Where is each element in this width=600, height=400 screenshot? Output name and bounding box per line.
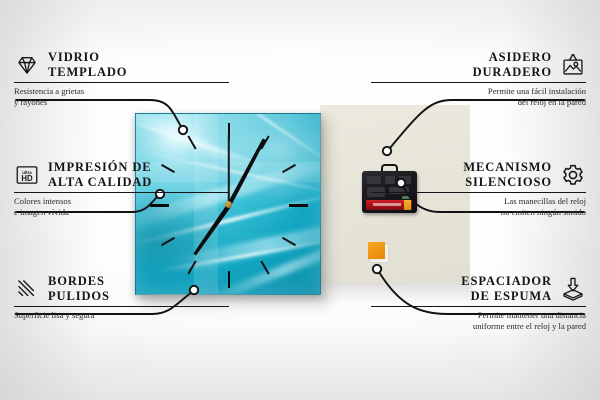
feature-description: Resistencia a grietas y rayones — [14, 86, 229, 108]
feature-asidero-duradero: ASIDERO DURADERO Permite una fácil insta… — [371, 50, 586, 108]
feature-rule — [371, 192, 586, 193]
svg-text:HD: HD — [21, 174, 33, 183]
feature-description: Permite una fácil instalación del reloj … — [371, 86, 586, 108]
feature-rule — [14, 192, 229, 193]
feature-rule — [14, 82, 229, 83]
feature-title: ASIDERO DURADERO — [473, 50, 552, 79]
feature-vidrio-templado: VIDRIO TEMPLADO Resistencia a grietas y … — [14, 50, 229, 108]
feature-title: IMPRESIÓN DE ALTA CALIDAD — [48, 160, 152, 189]
feature-description: Las manecillas del reloj no emiten ningú… — [371, 196, 586, 218]
feature-title: MECANISMO SILENCIOSO — [463, 160, 552, 189]
diamond-icon — [14, 52, 40, 78]
polished-edges-icon — [14, 276, 40, 302]
feature-description: Colores intensos e imagen vívida — [14, 196, 229, 218]
feature-rule — [371, 82, 586, 83]
feature-rule — [14, 306, 229, 307]
feature-mecanismo-silencioso: MECANISMO SILENCIOSO Las manecillas del … — [371, 160, 586, 218]
feature-description: Superficie lisa y segura — [14, 310, 229, 321]
feature-bordes-pulidos: BORDES PULIDOS Superficie lisa y segura — [14, 274, 229, 321]
gear-icon — [560, 162, 586, 188]
picture-frame-hanger-icon — [560, 52, 586, 78]
foam-spacer-arrow-icon — [560, 276, 586, 302]
feature-impresion-alta-calidad: ultra HD IMPRESIÓN DE ALTA CALIDAD Color… — [14, 160, 229, 218]
feature-title: ESPACIADOR DE ESPUMA — [461, 274, 552, 303]
feature-description: Permite mantener una distancia uniforme … — [371, 310, 586, 332]
feature-rule — [371, 306, 586, 307]
foam-spacer-pad — [368, 242, 385, 259]
feature-espaciador-de-espuma: ESPACIADOR DE ESPUMA Permite mantener un… — [371, 274, 586, 332]
feature-title: VIDRIO TEMPLADO — [48, 50, 127, 79]
feature-title: BORDES PULIDOS — [48, 274, 110, 303]
clock-tick-3 — [289, 204, 308, 207]
ultra-hd-icon: ultra HD — [14, 162, 40, 188]
